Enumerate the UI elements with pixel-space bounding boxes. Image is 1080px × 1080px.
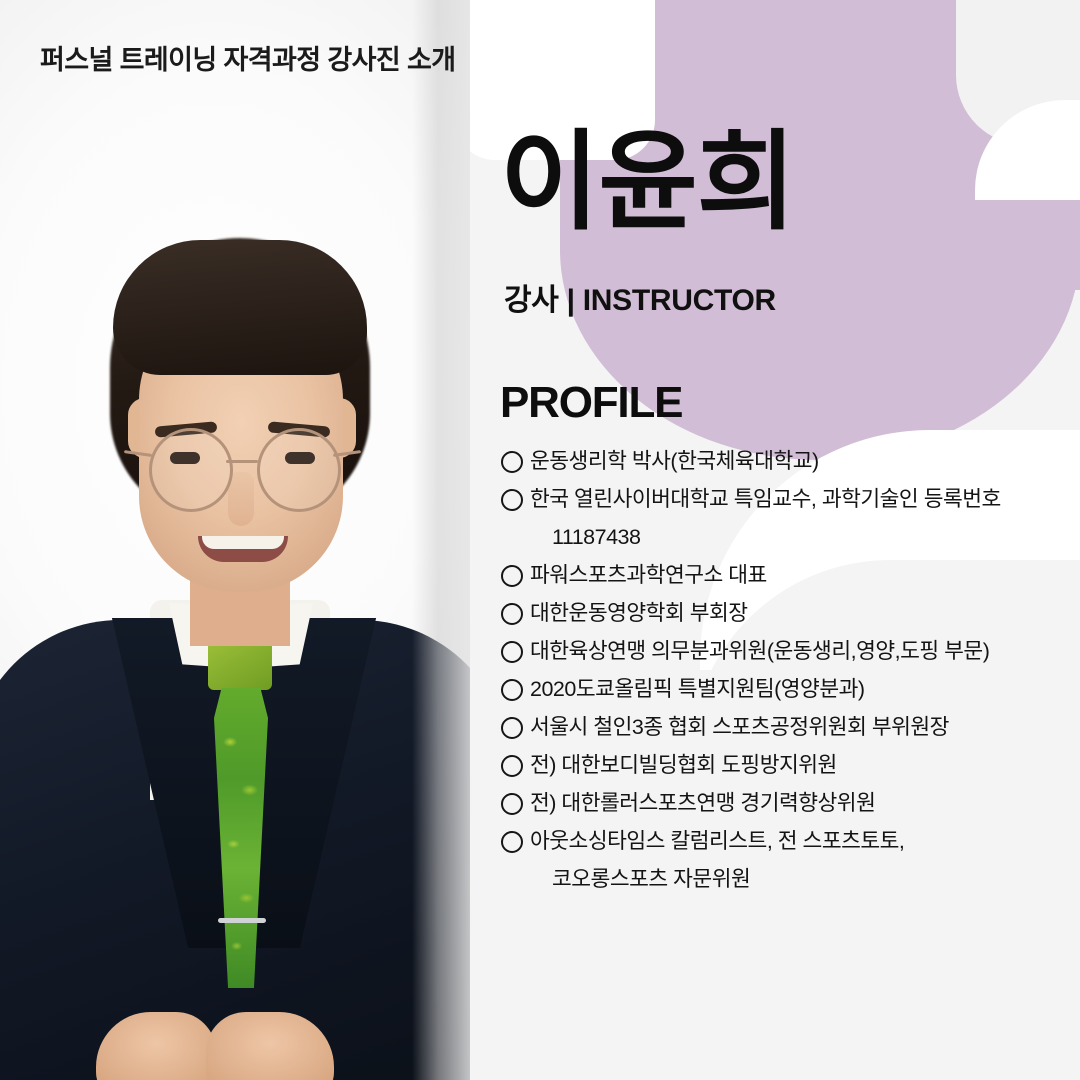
circle-bullet-icon <box>501 793 523 815</box>
eyeglasses-bridge <box>226 460 258 463</box>
circle-bullet-icon <box>501 641 523 663</box>
circle-bullet-icon <box>501 489 523 511</box>
profile-item-text: 한국 열린사이버대학교 특임교수, 과학기술인 등록번호 <box>530 487 1001 511</box>
tie-clip <box>218 918 266 923</box>
circle-bullet-icon <box>501 717 523 739</box>
profile-item: 대한육상연맹 의무분과위원(운동생리,영양,도핑 부문) <box>500 632 1075 670</box>
profile-list: 운동생리학 박사(한국체육대학교)한국 열린사이버대학교 특임교수, 과학기술인… <box>500 442 1075 898</box>
profile-item: 대한운동영양학회 부회장 <box>500 594 1075 632</box>
nose <box>228 472 254 526</box>
profile-item: 전) 대한롤러스포츠연맹 경기력향상위원 <box>500 784 1075 822</box>
circle-bullet-icon <box>501 679 523 701</box>
profile-item: 한국 열린사이버대학교 특임교수, 과학기술인 등록번호11187438 <box>500 480 1075 556</box>
hair-front <box>113 240 367 375</box>
profile-item-text: 전) 대한롤러스포츠연맹 경기력향상위원 <box>530 791 875 815</box>
profile-item-text: 2020도쿄올림픽 특별지원팀(영양분과) <box>530 677 865 701</box>
profile-item: 서울시 철인3종 협회 스포츠공정위원회 부위원장 <box>500 708 1075 746</box>
profile-item: 2020도쿄올림픽 특별지원팀(영양분과) <box>500 670 1075 708</box>
mouth <box>198 536 288 562</box>
eyeglasses-lens-right <box>257 428 341 512</box>
profile-item-text: 전) 대한보디빌딩협회 도핑방지위원 <box>530 753 837 777</box>
profile-item: 파워스포츠과학연구소 대표 <box>500 556 1075 594</box>
profile-item-text: 대한육상연맹 의무분과위원(운동생리,영양,도핑 부문) <box>530 639 989 663</box>
profile-item: 아웃소싱타임스 칼럼리스트, 전 스포츠토토,코오롱스포츠 자문위원 <box>500 822 1075 898</box>
instructor-name: 이윤희 <box>500 128 795 236</box>
circle-bullet-icon <box>501 451 523 473</box>
circle-bullet-icon <box>501 755 523 777</box>
photo-edge-gradient <box>412 0 470 1080</box>
profile-item-text: 대한운동영양학회 부회장 <box>530 601 748 625</box>
page-title: 퍼스널 트레이닝 자격과정 강사진 소개 <box>40 38 455 77</box>
eyeglasses-lens-left <box>149 428 233 512</box>
profile-item-text: 파워스포츠과학연구소 대표 <box>530 563 767 587</box>
profile-item-text: 서울시 철인3종 협회 스포츠공정위원회 부위원장 <box>530 715 949 739</box>
profile-item-continuation: 코오롱스포츠 자문위원 <box>530 860 1075 898</box>
instructor-profile-card: 퍼스널 트레이닝 자격과정 강사진 소개 이윤희 강사 | INSTRUCTOR… <box>0 0 1080 1080</box>
profile-item: 전) 대한보디빌딩협회 도핑방지위원 <box>500 746 1075 784</box>
profile-item-text: 운동생리학 박사(한국체육대학교) <box>530 449 819 473</box>
instructor-role: 강사 | INSTRUCTOR <box>504 275 776 319</box>
profile-item: 운동생리학 박사(한국체육대학교) <box>500 442 1075 480</box>
profile-item-text: 아웃소싱타임스 칼럼리스트, 전 스포츠토토, <box>530 829 904 853</box>
circle-bullet-icon <box>501 831 523 853</box>
instructor-photo <box>0 0 470 1080</box>
circle-bullet-icon <box>501 603 523 625</box>
teeth <box>202 536 284 549</box>
circle-bullet-icon <box>501 565 523 587</box>
profile-heading: PROFILE <box>500 378 682 428</box>
profile-item-continuation: 11187438 <box>530 518 1075 556</box>
